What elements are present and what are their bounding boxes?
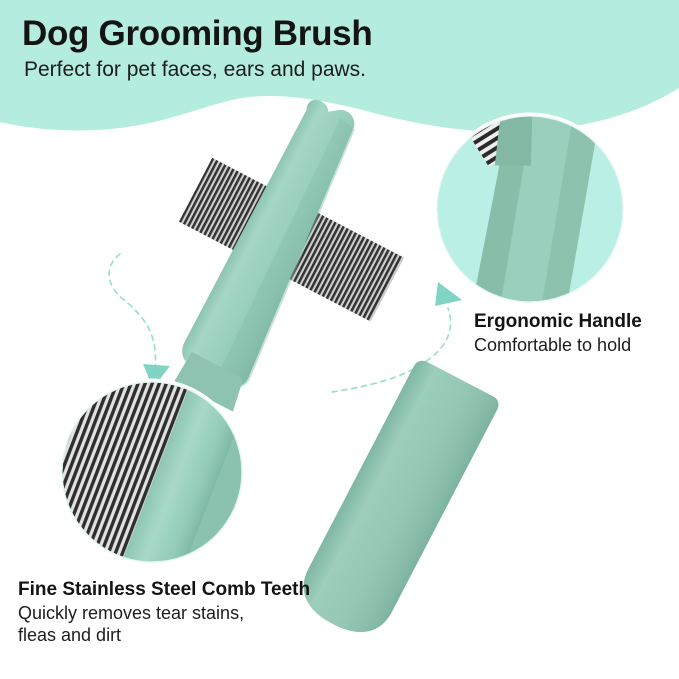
callout-ergonomic-handle: Ergonomic Handle Comfortable to hold — [474, 310, 642, 356]
connector-line-teeth — [109, 254, 155, 368]
callout-comb-teeth: Fine Stainless Steel Comb Teeth Quickly … — [18, 578, 310, 647]
product-infographic: Dog Grooming Brush Perfect for pet faces… — [0, 0, 679, 679]
callout-desc-teeth-line1: Quickly removes tear stains, — [18, 602, 310, 625]
callout-title-handle: Ergonomic Handle — [474, 310, 642, 334]
comb-handle — [291, 357, 502, 645]
callout-desc-handle: Comfortable to hold — [474, 334, 642, 357]
connector-arrow-handle — [435, 282, 462, 306]
callout-title-teeth: Fine Stainless Steel Comb Teeth — [18, 578, 310, 602]
callout-desc-teeth-line2: fleas and dirt — [18, 624, 310, 647]
